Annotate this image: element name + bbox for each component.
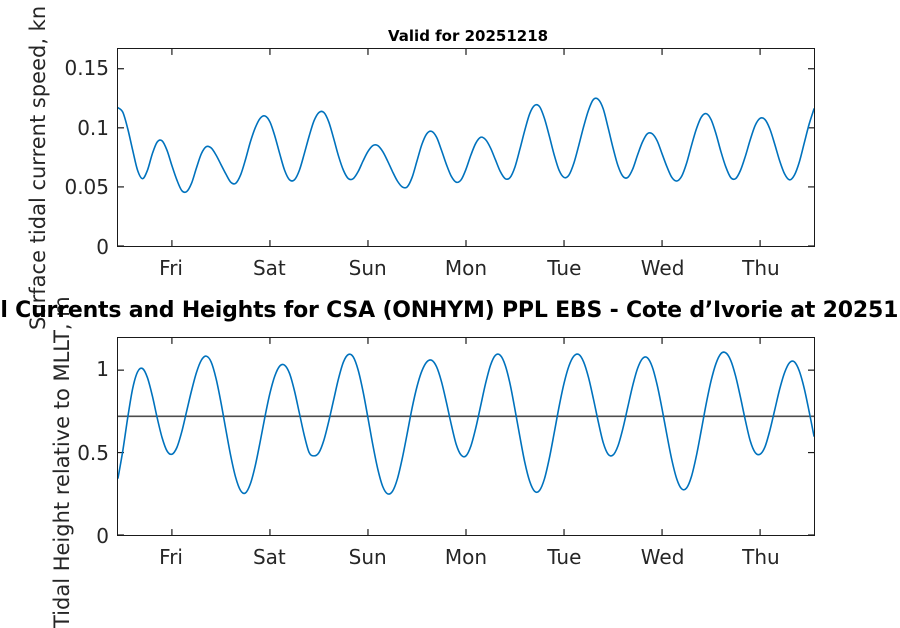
x-tick-label: Fri xyxy=(159,256,183,280)
x-tick-label: Wed xyxy=(641,256,685,280)
y-axis-label-current-speed: Surface tidal current speed, kn xyxy=(26,6,50,330)
x-tick-label: Sat xyxy=(253,545,286,569)
figure-canvas: Surface tidal current speed, kn Tidal He… xyxy=(0,0,900,600)
x-tick-label: Thu xyxy=(742,256,780,280)
y-tick-label: 0.5 xyxy=(21,441,109,465)
x-tick-label: Thu xyxy=(742,545,780,569)
x-tick-label: Mon xyxy=(445,545,487,569)
x-tick-label: Fri xyxy=(159,545,183,569)
x-tick-label: Sun xyxy=(349,545,387,569)
y-tick-label: 0.15 xyxy=(21,56,109,80)
data-series-line xyxy=(118,352,814,494)
y-tick-label: 1 xyxy=(21,357,109,381)
y-tick-label: 0 xyxy=(21,524,109,548)
x-tick-label: Tue xyxy=(547,256,581,280)
x-tick-label: Mon xyxy=(445,256,487,280)
x-tick-label: Sun xyxy=(349,256,387,280)
chart-panel-tidal-height xyxy=(117,337,815,536)
y-tick-label: 0.1 xyxy=(21,116,109,140)
x-tick-label: Sat xyxy=(253,256,286,280)
chart-subtitle: Valid for 20251218 xyxy=(388,27,548,45)
y-tick-label: 0 xyxy=(21,235,109,259)
chart-panel-current-speed xyxy=(117,48,815,247)
x-tick-label: Tue xyxy=(547,545,581,569)
data-series-line xyxy=(118,98,814,192)
figure-main-title: Tidal Currents and Heights for CSA (ONHY… xyxy=(0,298,900,323)
current-speed-plot-area xyxy=(118,49,814,246)
x-tick-label: Wed xyxy=(641,545,685,569)
tidal-height-plot-area xyxy=(118,338,814,535)
y-tick-label: 0.05 xyxy=(21,175,109,199)
